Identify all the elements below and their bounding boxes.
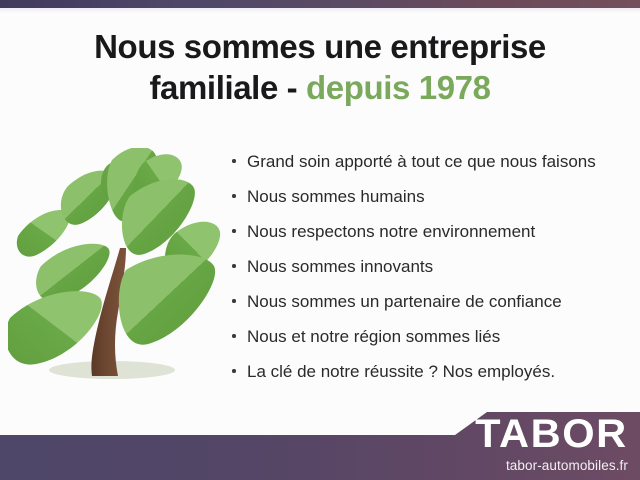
bullet-dot-icon <box>232 334 236 338</box>
list-item-label: Nous sommes un partenaire de confiance <box>247 292 562 311</box>
list-item: Grand soin apporté à tout ce que nous fa… <box>228 150 628 185</box>
brand-logo: TABOR tabor-automobiles.fr <box>481 414 628 473</box>
tree-leaf-group <box>8 209 110 364</box>
list-item: Nous sommes innovants <box>228 255 628 290</box>
brand-tagline: tabor-automobiles.fr <box>481 459 628 473</box>
headline-line-2: familiale - depuis 1978 <box>0 67 640 108</box>
list-item: Nous sommes un partenaire de confiance <box>228 290 628 325</box>
list-item-label: Nous sommes humains <box>247 187 425 206</box>
bullet-dot-icon <box>232 229 236 233</box>
top-strip-fade <box>0 8 640 13</box>
list-item-label: Nous sommes innovants <box>247 257 433 276</box>
headline-line-1: Nous sommes une entreprise <box>94 28 546 65</box>
brand-wordmark: TABOR <box>475 414 628 454</box>
list-item-label: Nous respectons notre environnement <box>247 222 535 241</box>
list-item: Nous respectons notre environnement <box>228 220 628 255</box>
benefit-list: Grand soin apporté à tout ce que nous fa… <box>228 150 628 395</box>
footer-band: TABOR tabor-automobiles.fr <box>0 400 640 480</box>
tree-icon <box>8 148 223 388</box>
list-item-label: La clé de notre réussite ? Nos employés. <box>247 362 555 381</box>
bullet-dot-icon <box>232 159 236 163</box>
tree-illustration <box>8 148 223 388</box>
bullet-dot-icon <box>232 194 236 198</box>
list-item-label: Grand soin apporté à tout ce que nous fa… <box>247 152 596 171</box>
slide-canvas: Nous sommes une entreprise familiale - d… <box>0 0 640 480</box>
headline: Nous sommes une entreprise familiale - d… <box>0 26 640 108</box>
list-item: La clé de notre réussite ? Nos employés. <box>228 360 628 395</box>
bullet-dot-icon <box>232 369 236 373</box>
headline-accent: depuis 1978 <box>306 69 491 106</box>
list-item: Nous et notre région sommes liés <box>228 325 628 360</box>
bullet-dot-icon <box>232 299 236 303</box>
bullet-dot-icon <box>232 264 236 268</box>
top-accent-strip <box>0 0 640 8</box>
headline-line-2-static: familiale - <box>149 69 306 106</box>
list-item: Nous sommes humains <box>228 185 628 220</box>
list-item-label: Nous et notre région sommes liés <box>247 327 500 346</box>
